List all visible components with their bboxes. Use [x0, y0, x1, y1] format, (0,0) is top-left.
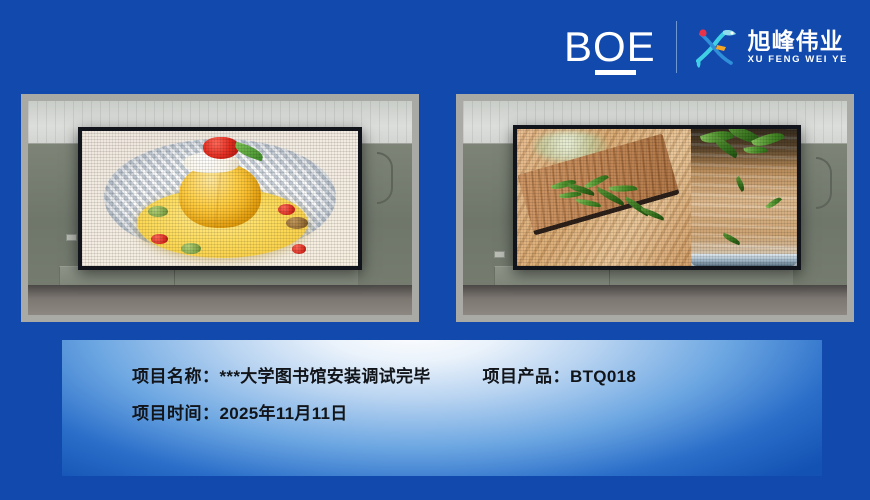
wall-outlet	[494, 251, 505, 258]
led-screen-bezel	[513, 125, 801, 271]
xufeng-bird-x-mark-icon	[693, 25, 739, 69]
photo-right-content	[463, 101, 847, 315]
partner-name-block: 旭峰伟业 XU FENG WEI YE	[748, 29, 848, 65]
garnish-berry	[151, 234, 168, 245]
project-product-label: 项目产品：	[483, 362, 571, 387]
info-panel: 项目名称： ***大学图书馆安装调试完毕 项目产品： BTQ018 项目时间： …	[62, 340, 822, 476]
garnish-berry	[292, 244, 306, 253]
wall-cable	[377, 152, 393, 204]
partner-logo: 旭峰伟业 XU FENG WEI YE	[693, 25, 848, 69]
info-row: 项目时间： 2025年11月11日	[132, 399, 636, 436]
boe-wordmark: BOE	[564, 26, 656, 68]
info-row: 项目名称： ***大学图书馆安装调试完毕 项目产品： BTQ018	[132, 362, 636, 399]
led-screen-bezel	[78, 127, 362, 270]
partner-name-en: XU FENG WEI YE	[748, 55, 848, 65]
info-text-block: 项目名称： ***大学图书馆安装调试完毕 项目产品： BTQ018 项目时间： …	[132, 362, 636, 436]
boe-logo: BOE	[564, 26, 676, 68]
wall-outlet	[66, 234, 77, 241]
led-screen-left	[82, 131, 358, 266]
led-display-photo-right	[456, 94, 854, 322]
tea-image	[517, 129, 797, 267]
poster-root: BOE 旭峰伟业 XU FENG WEI YE	[0, 0, 870, 500]
partner-name-cn: 旭峰伟业	[748, 29, 848, 53]
project-date-label: 项目时间：	[132, 399, 220, 424]
tea-glass-base	[691, 254, 797, 266]
project-name-value: ***大学图书馆安装调试完毕	[220, 362, 431, 387]
boe-underline-mark	[595, 70, 636, 75]
project-name-label: 项目名称：	[132, 362, 220, 387]
led-display-photo-left	[21, 94, 419, 322]
logo-divider	[676, 21, 677, 73]
wall-cable	[816, 157, 832, 209]
floor	[28, 285, 412, 315]
mango-sphere	[179, 163, 262, 228]
dessert-image	[82, 131, 358, 266]
led-screen-right	[517, 129, 797, 267]
logo-bar: BOE 旭峰伟业 XU FENG WEI YE	[564, 16, 848, 78]
garnish-pistachio	[148, 206, 167, 217]
floor	[463, 285, 847, 315]
garnish-pistachio	[181, 243, 200, 254]
project-date-value: 2025年11月11日	[220, 399, 348, 424]
garnish-berry	[278, 204, 295, 215]
tea-glass	[691, 129, 797, 267]
photo-left-content	[28, 101, 412, 315]
project-product-value: BTQ018	[570, 367, 636, 387]
